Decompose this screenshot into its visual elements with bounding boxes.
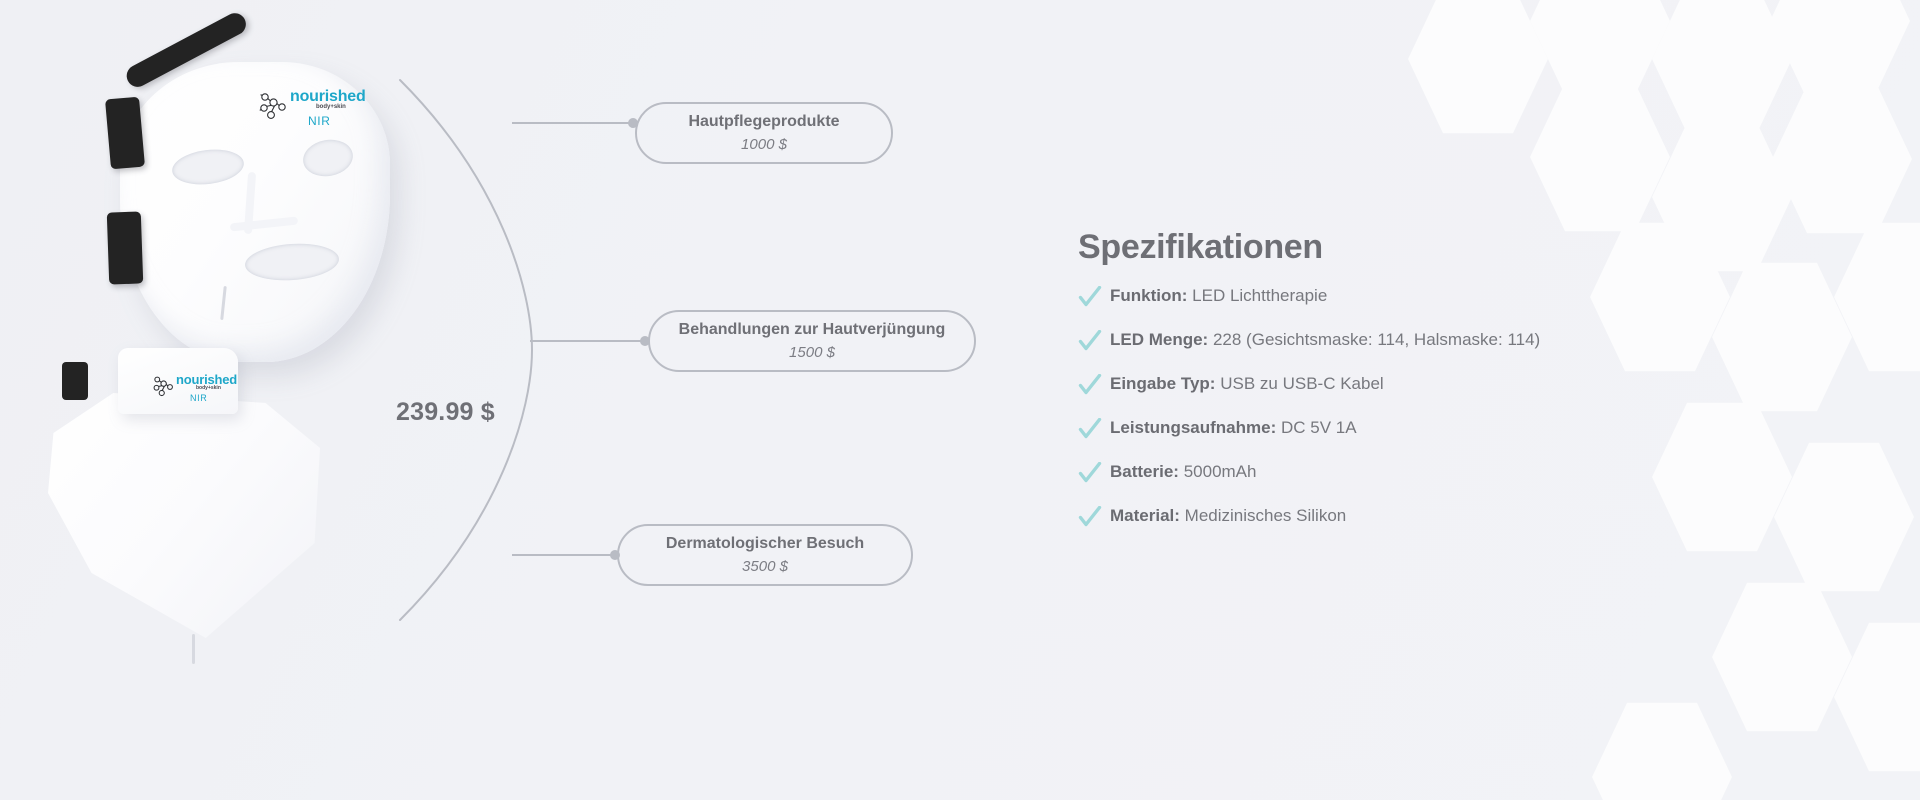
hexagon-shape: [1770, 0, 1910, 100]
check-icon: [1078, 330, 1104, 357]
spec-item-funktion: Funktion: LED Lichttherapie: [1078, 285, 1548, 313]
product-price: 239.99 $: [396, 398, 495, 427]
spec-key: Leistungsaufnahme:: [1110, 418, 1276, 437]
spec-item-batterie: Batterie: 5000mAh: [1078, 461, 1548, 489]
spec-item-eingabe-typ: Eingabe Typ: USB zu USB-C Kabel: [1078, 373, 1548, 401]
check-icon: [1078, 506, 1104, 533]
connector-line-2: [530, 340, 646, 342]
hexagon-shape: [1652, 398, 1792, 556]
connector-line-1: [512, 122, 634, 124]
spec-text: Funktion: LED Lichttherapie: [1110, 285, 1327, 307]
face-mask-body: [120, 62, 390, 362]
neck-mask-strap-tab: [62, 362, 88, 400]
check-icon: [1078, 462, 1104, 489]
face-mask-nose-base: [230, 216, 298, 231]
spec-key: Funktion:: [1110, 286, 1187, 305]
hexagon-shape: [1530, 0, 1670, 100]
spec-text: Eingabe Typ: USB zu USB-C Kabel: [1110, 373, 1384, 395]
callout-title: Hautpflegeprodukte: [688, 111, 839, 133]
spec-text: LED Menge: 228 (Gesichtsmaske: 114, Hals…: [1110, 329, 1540, 351]
face-mask-strap-tab-lower: [107, 211, 143, 284]
hexagon-shape: [1530, 78, 1670, 236]
callout-card-dermatologist-visit[interactable]: Dermatologischer Besuch 3500 $: [617, 524, 913, 586]
specifications-panel: Spezifikationen Funktion: LED Lichtthera…: [1078, 228, 1548, 549]
spec-value: 5000mAh: [1184, 462, 1257, 481]
spec-text: Batterie: 5000mAh: [1110, 461, 1256, 483]
connector-line-3: [512, 554, 616, 556]
hexagon-shape: [1408, 0, 1548, 138]
callout-card-rejuvenation-treatments[interactable]: Behandlungen zur Hautverjüngung 1500 $: [648, 310, 976, 372]
hexagon-shape: [1774, 438, 1914, 596]
product-spec-infographic: nourished body+skin NIR: [0, 0, 1920, 800]
spec-value: USB zu USB-C Kabel: [1220, 374, 1383, 393]
spec-text: Leistungsaufnahme: DC 5V 1A: [1110, 417, 1357, 439]
callout-price: 1000 $: [741, 134, 787, 155]
spec-key: Batterie:: [1110, 462, 1179, 481]
spec-key: Eingabe Typ:: [1110, 374, 1215, 393]
hexagon-shape: [1592, 698, 1732, 800]
callout-title: Behandlungen zur Hautverjüngung: [679, 319, 946, 341]
hexagon-shape: [1652, 0, 1792, 138]
spec-item-leistungsaufnahme: Leistungsaufnahme: DC 5V 1A: [1078, 417, 1548, 445]
hexagon-shape: [1712, 578, 1852, 736]
spec-item-material: Material: Medizinisches Silikon: [1078, 505, 1548, 533]
spec-item-led-menge: LED Menge: 228 (Gesichtsmaske: 114, Hals…: [1078, 329, 1548, 357]
face-mask-head-strap: [123, 9, 250, 90]
callout-card-skincare-products[interactable]: Hautpflegeprodukte 1000 $: [635, 102, 893, 164]
check-icon: [1078, 374, 1104, 401]
hexagon-shape: [1712, 258, 1852, 416]
face-mask-mouth-opening: [244, 241, 340, 283]
specifications-title: Spezifikationen: [1078, 228, 1548, 267]
spec-text: Material: Medizinisches Silikon: [1110, 505, 1346, 527]
hexagon-shape: [1590, 218, 1730, 376]
spec-key: Material:: [1110, 506, 1180, 525]
hexagon-shape: [1834, 618, 1920, 776]
callout-title: Dermatologischer Besuch: [666, 533, 864, 555]
check-icon: [1078, 286, 1104, 313]
face-mask-strap-tab-upper: [105, 97, 145, 170]
product-images: nourished body+skin NIR: [0, 0, 420, 800]
hexagon-shape: [1834, 218, 1920, 376]
specifications-list: Funktion: LED Lichttherapie LED Menge: 2…: [1078, 285, 1548, 533]
spec-key: LED Menge:: [1110, 330, 1208, 349]
spec-value: LED Lichttherapie: [1192, 286, 1327, 305]
neck-mask-collar: [118, 348, 238, 414]
neck-mask-cable: [192, 634, 195, 664]
check-icon: [1078, 418, 1104, 445]
spec-value: 228 (Gesichtsmaske: 114, Halsmaske: 114): [1213, 330, 1540, 349]
spec-value: DC 5V 1A: [1281, 418, 1357, 437]
callout-price: 3500 $: [742, 556, 788, 577]
hexagon-shape: [1652, 118, 1792, 276]
callout-price: 1500 $: [789, 342, 835, 363]
face-mask-eye-opening-right: [300, 136, 355, 180]
face-mask-eye-opening-left: [170, 146, 246, 189]
neck-mask-body: [48, 388, 320, 638]
hexagon-shape: [1772, 80, 1912, 238]
spec-value: Medizinisches Silikon: [1185, 506, 1347, 525]
